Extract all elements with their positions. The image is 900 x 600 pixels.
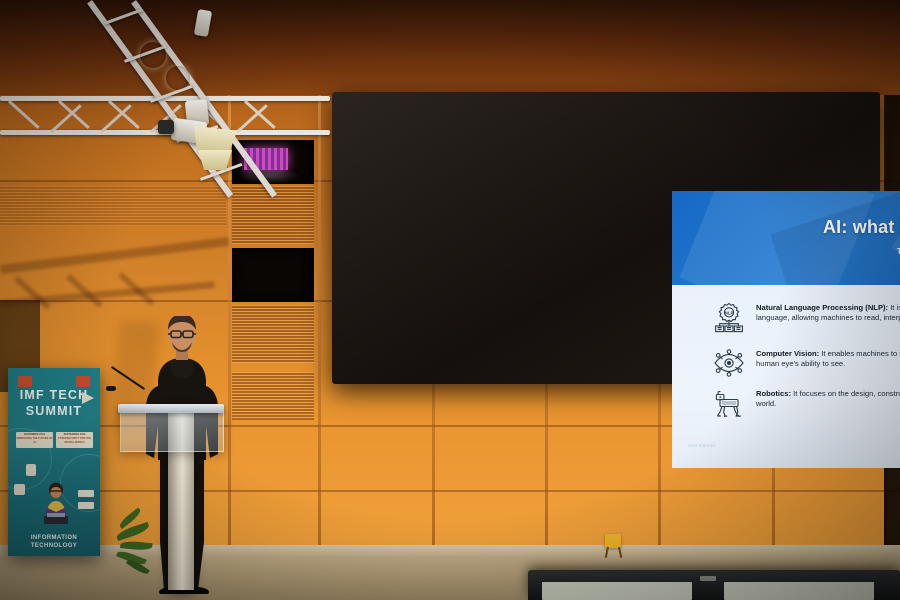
banner-chip-icon: [18, 376, 32, 387]
svg-text:NLP: NLP: [725, 310, 734, 315]
podium-acrylic-panel: [120, 410, 224, 452]
slide-title: AI: what happened so far?: [672, 217, 900, 238]
stage-spotlight: [140, 42, 166, 68]
microphone-head: [106, 386, 116, 391]
slide-bullet-text: Robotics: It focuses on the design, cons…: [756, 389, 900, 410]
projection-screen-bezel: AI: what happened so far? The categories…: [332, 92, 880, 384]
slide-bullet-term: Natural Language Processing (NLP):: [756, 303, 888, 312]
banner-footer: INFORMATION TECHNOLOGY: [8, 534, 100, 550]
slide-bullet-term: Robotics:: [756, 389, 791, 398]
monitor-center-clip: [700, 576, 716, 581]
control-booth-window: [232, 248, 314, 302]
presentation-slide: AI: what happened so far? The categories…: [672, 191, 900, 468]
booth-glow: [240, 168, 300, 184]
monitor-screen-right: [724, 582, 874, 600]
wall-panel-slats: [232, 305, 314, 363]
slide-footer-caption: Visit Internet: [688, 443, 715, 448]
banner-icon-badge: [78, 502, 94, 509]
podium-top-surface: [118, 404, 224, 413]
banner-title-line2: SUMMIT: [8, 404, 100, 418]
banner-pill-left: NOVEMBER 2023 EMBRACING THE FUTURE OF AI: [16, 432, 53, 448]
conference-photo-scene: AI: what happened so far? The categories…: [0, 0, 900, 600]
confidence-monitor: [528, 570, 900, 600]
slide-bullet-computer-vision: Computer Vision: It enables machines to …: [712, 349, 900, 380]
event-banner: IMF TECH SUMMIT NOVEMBER 2023 EMBRACING …: [8, 368, 100, 556]
slide-subtitle: The categories of AI: [672, 247, 900, 256]
robotics-robot-dog-icon: [712, 386, 746, 420]
banner-shield-icon: [26, 464, 36, 476]
computer-vision-eye-icon: [712, 346, 746, 380]
banner-footer-line1: INFORMATION: [31, 535, 77, 541]
wall-trim-line: [0, 490, 900, 492]
slide-bullet-term: Computer Vision:: [756, 349, 819, 358]
wall-upper-shadow: [0, 0, 900, 95]
slide-bullet-text: Natural Language Processing (NLP): It is…: [756, 303, 900, 324]
banner-pill-left-topic: EMBRACING THE FUTURE OF AI: [16, 436, 53, 444]
nlp-gear-icon: NLP: [712, 300, 746, 334]
slide-header-band: AI: what happened so far? The categories…: [672, 191, 900, 285]
monitor-screen-left: [542, 582, 692, 600]
slide-bullet-nlp: NLP Natural Language Processing (NLP): I…: [712, 303, 900, 334]
banner-chip-icon: [76, 376, 90, 387]
stage-spotlight: [166, 66, 190, 90]
wall-panel-slats: [0, 186, 226, 226]
wall-panel-slats: [232, 372, 314, 420]
banner-pill-right-topic: CYBERSECURITY FOR THE DIGITAL WORLD: [56, 436, 93, 444]
banner-icon-badge: [14, 484, 25, 495]
slide-body: NLP Natural Language Processing (NLP): I…: [672, 285, 900, 468]
wall-trim-line: [318, 95, 321, 545]
slide-bullet-text: Computer Vision: It enables machines to …: [756, 349, 900, 370]
slide-bullet-robotics: Robotics: It focuses on the design, cons…: [712, 389, 900, 420]
banner-icon-badge: [78, 490, 94, 497]
banner-pill-right: SEPTEMBER 2023 CYBERSECURITY FOR THE DIG…: [56, 432, 93, 448]
banner-footer-line2: TECHNOLOGY: [31, 543, 77, 549]
banner-paper-plane-icon: [82, 392, 94, 404]
spotlight-cable-box: [158, 120, 174, 134]
banner-illustration-person: [38, 480, 74, 526]
